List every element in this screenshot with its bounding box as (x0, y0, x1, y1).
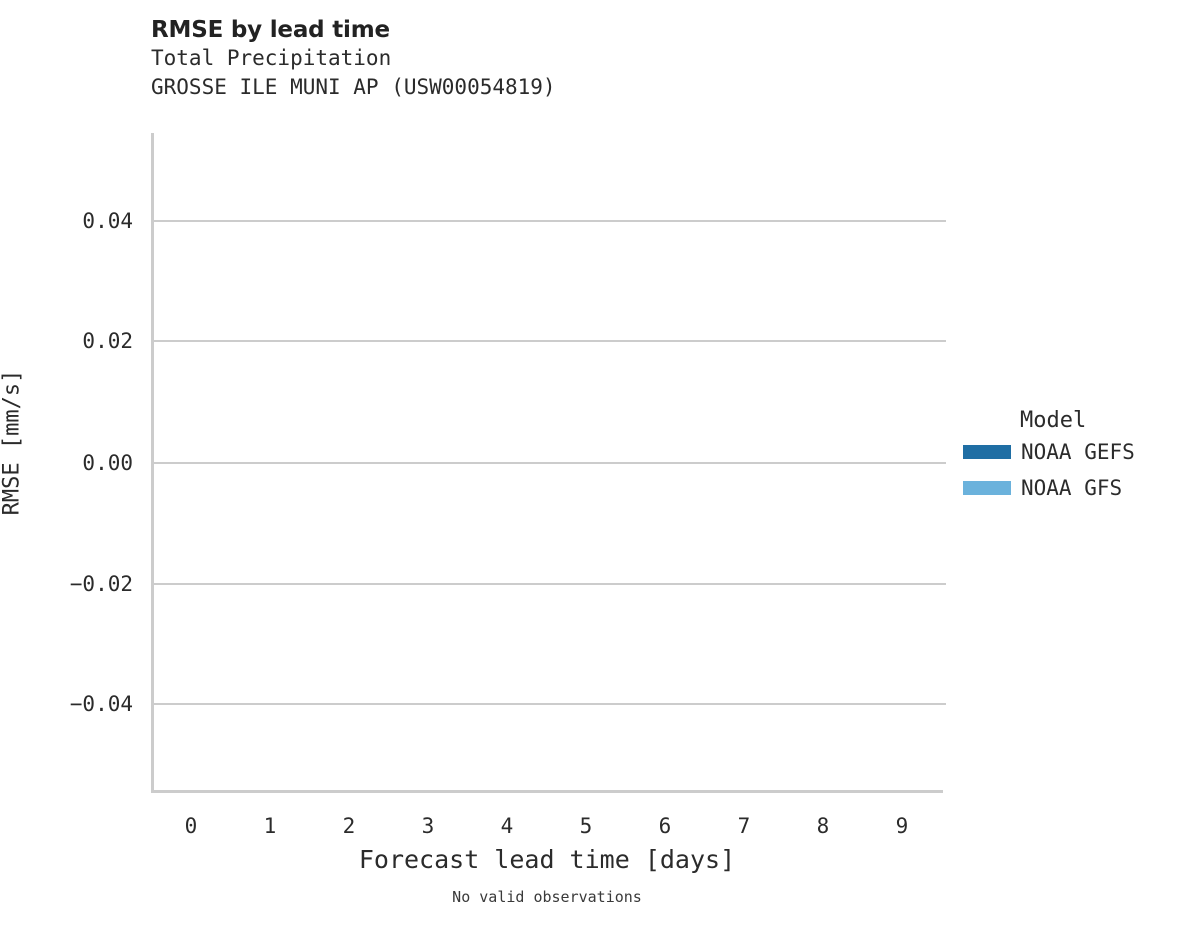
legend-item-noaa-gefs[interactable]: NOAA GEFS (963, 434, 1178, 470)
gridline--0.04 (154, 703, 946, 705)
ytick-label-0: 0.04 (33, 209, 133, 233)
y-axis-label: RMSE [mm/s] (0, 293, 25, 593)
gridline-0.02 (154, 340, 946, 342)
legend: Model NOAA GEFS NOAA GFS (963, 408, 1178, 506)
legend-label-noaa-gefs: NOAA GEFS (1021, 440, 1135, 464)
xtick-label-7: 7 (724, 814, 764, 838)
no-data-annotation: No valid observations (151, 888, 943, 906)
ytick-label-2: 0.00 (33, 451, 133, 475)
legend-title: Model (963, 408, 1178, 434)
xtick-label-2: 2 (329, 814, 369, 838)
x-axis-label: Forecast lead time [days] (151, 845, 943, 874)
xtick-label-1: 1 (250, 814, 290, 838)
legend-label-noaa-gfs: NOAA GFS (1021, 476, 1122, 500)
ytick-label-4: −0.04 (33, 692, 133, 716)
chart-subtitle-variable: Total Precipitation (151, 44, 951, 73)
gridline-0.00 (154, 462, 946, 464)
chart-subtitle-station: GROSSE ILE MUNI AP (USW00054819) (151, 73, 951, 102)
xtick-label-4: 4 (487, 814, 527, 838)
xtick-label-0: 0 (171, 814, 211, 838)
legend-swatch-icon-noaa-gefs (963, 445, 1011, 459)
plot-area (151, 133, 943, 793)
xtick-label-5: 5 (566, 814, 606, 838)
gridline--0.02 (154, 583, 946, 585)
xtick-label-3: 3 (408, 814, 448, 838)
ytick-label-1: 0.02 (33, 329, 133, 353)
ytick-label-3: −0.02 (33, 572, 133, 596)
xtick-label-9: 9 (882, 814, 922, 838)
xtick-label-8: 8 (803, 814, 843, 838)
legend-item-noaa-gfs[interactable]: NOAA GFS (963, 470, 1178, 506)
page-title: RMSE by lead time (151, 16, 951, 44)
xtick-label-6: 6 (645, 814, 685, 838)
title-block: RMSE by lead time Total Precipitation GR… (151, 16, 951, 102)
legend-swatch-icon-noaa-gfs (963, 481, 1011, 495)
gridline-0.04 (154, 220, 946, 222)
